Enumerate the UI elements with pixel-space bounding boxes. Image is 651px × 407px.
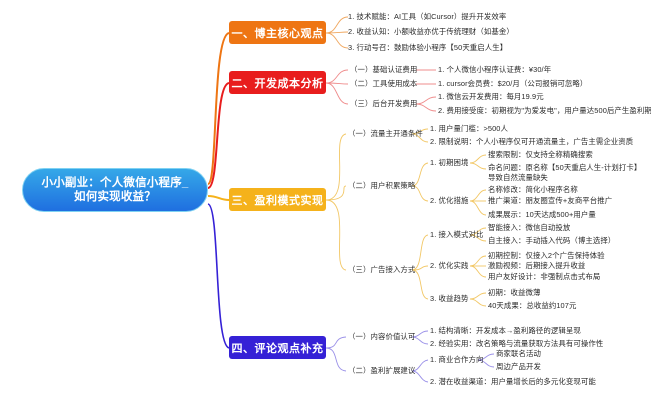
leaf-3-1-1[interactable]: 1. 用户量门槛：>500人	[430, 124, 508, 134]
mindmap-canvas: 小小副业：个人微信小程序_ 如何实现收益？ 一、博主核心观点 1. 技术赋能：A…	[0, 0, 651, 407]
sub-2-3[interactable]: （三）后台开发费用	[350, 99, 417, 109]
section-node-3[interactable]: 三、盈利模式实现	[229, 188, 326, 211]
sub-2-2[interactable]: （二）工具使用成本	[350, 79, 417, 89]
root-title-line2: 如何实现收益？	[74, 190, 156, 204]
leaf-3-3-3-2[interactable]: 40天成果：总收益约107元	[488, 301, 576, 311]
leaf-4-2-1-2[interactable]: 周边产品开发	[496, 362, 541, 372]
leaf-3-1-2[interactable]: 2. 限制说明：个人小程序仅可开通流量主，广告主需企业资质	[430, 137, 633, 147]
sub-3-2[interactable]: （二）用户积累策略	[348, 181, 415, 191]
leaf-4-1-2[interactable]: 2. 经验实用：改名策略与流量获取方法具有可操作性	[430, 339, 603, 349]
leaf-3-2-1-1[interactable]: 搜索限制：仅支持全称精确搜索	[488, 150, 593, 160]
leaf-3-3-2-1[interactable]: 初期控制：仅接入2个广告保持体验	[488, 251, 605, 261]
leaf-4-1-1[interactable]: 1. 结构清晰：开发成本→盈利路径的逻辑呈现	[430, 326, 581, 336]
sub-3-3-2[interactable]: 2. 优化实践	[430, 261, 468, 271]
sub-4-2[interactable]: （二）盈利扩展建议	[348, 366, 415, 376]
leaf-4-2-2[interactable]: 2. 潜在收益渠道：用户量增长后的多元化变现可能	[430, 377, 596, 387]
leaf-3-2-2-1[interactable]: 名称修改：简化小程序名称	[488, 185, 578, 195]
leaf-3-2-2-2[interactable]: 推广渠道：朋友圈宣传+友商平台推广	[488, 196, 612, 206]
leaf-3-2-2-3[interactable]: 成果展示：10天达成500+用户量	[488, 210, 596, 220]
sub-3-1[interactable]: （一）流量主开通条件	[348, 129, 423, 139]
sub-2-1[interactable]: （一）基础认证费用	[350, 65, 417, 75]
leaf-1-1[interactable]: 1. 技术赋能：AI工具（如Cursor）提升开发效率	[348, 12, 506, 22]
leaf-2-1-1[interactable]: 1. 个人微信小程序认证费：¥30/年	[438, 65, 551, 75]
section-node-1[interactable]: 一、博主核心观点	[229, 21, 326, 44]
leaf-3-3-1-1[interactable]: 智能接入：微信自动投放	[488, 223, 570, 233]
leaf-2-2-1[interactable]: 1. cursor会员费：$20/月（公司报销可忽略）	[438, 79, 587, 89]
leaf-1-3[interactable]: 3. 行动号召：鼓励体验小程序【50天重启人生】	[348, 43, 507, 53]
leaf-2-3-1[interactable]: 1. 微信云开发费用：每月19.9元	[438, 92, 544, 102]
sub-4-2-1[interactable]: 1. 商业合作方向	[430, 355, 483, 365]
leaf-4-2-1-1[interactable]: 商家联名活动	[496, 349, 541, 359]
leaf-3-2-1-2[interactable]: 命名问题：原名称【50天重启人生-计划打卡】导致自然流量缺失	[488, 163, 644, 182]
root-title-line1: 小小副业：个人微信小程序_	[42, 176, 189, 190]
leaf-3-3-2-3[interactable]: 用户友好设计：非强制点击式布局	[488, 272, 600, 282]
sub-3-2-2[interactable]: 2. 优化措施	[430, 196, 468, 206]
sub-3-3[interactable]: （三）广告接入方式	[348, 265, 415, 275]
sub-4-1[interactable]: （一）内容价值认可	[348, 332, 415, 342]
leaf-1-2[interactable]: 2. 收益认知：小额收益亦优于传统理财（如基金）	[348, 27, 514, 37]
section-node-2[interactable]: 二、开发成本分析	[229, 71, 326, 94]
leaf-3-3-3-1[interactable]: 初期：收益微薄	[488, 288, 540, 298]
leaf-2-3-2[interactable]: 2. 费用接受度：初期视为"为爱发电"，用户量达500后产生盈利期待	[438, 106, 651, 116]
sub-3-3-1[interactable]: 1. 接入模式对比	[430, 230, 483, 240]
root-node[interactable]: 小小副业：个人微信小程序_ 如何实现收益？	[22, 168, 208, 212]
section-node-4[interactable]: 四、评论观点补充	[229, 336, 326, 359]
leaf-3-3-1-2[interactable]: 自主接入：手动插入代码（博主选择）	[488, 236, 615, 246]
sub-3-3-3[interactable]: 3. 收益趋势	[430, 294, 468, 304]
sub-3-2-1[interactable]: 1. 初期困境	[430, 158, 468, 168]
leaf-3-3-2-2[interactable]: 激励视频：后期接入提升收益	[488, 261, 585, 271]
